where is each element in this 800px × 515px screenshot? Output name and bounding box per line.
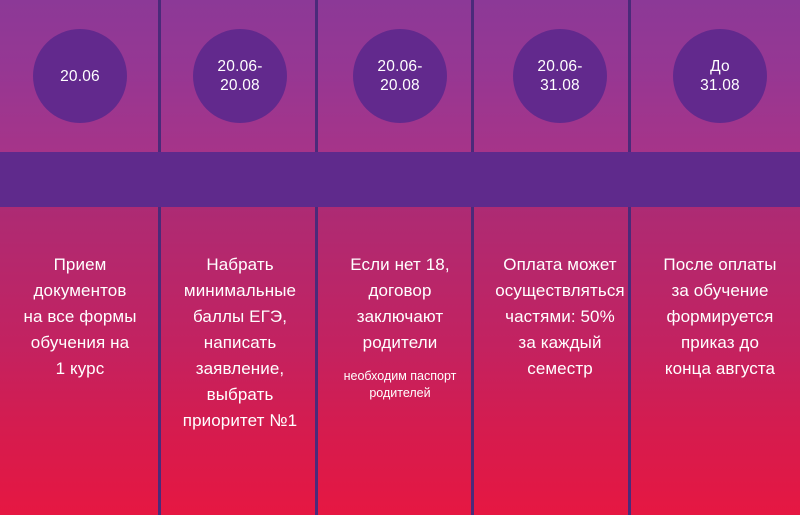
step-description: Прием документов на все формы обучения н…	[6, 252, 154, 382]
date-badge: 20.06- 20.08	[353, 29, 447, 123]
timeline-columns: 20.06 Начало Прием документов на все фор…	[0, 0, 800, 515]
step-description: Если нет 18, договор заключают родители	[326, 252, 474, 356]
date-badge-zone-5: До 31.08	[640, 0, 800, 152]
date-badge: 20.06- 31.08	[513, 29, 607, 123]
step-description: Набрать минимальные баллы ЕГЭ, написать …	[166, 252, 314, 434]
step-note: необходим паспорт родителей	[326, 368, 474, 402]
step-description-zone-1: Прием документов на все формы обучения н…	[0, 207, 160, 515]
timeline-step-5[interactable]: До 31.08 Приказ После оплаты за обучение…	[640, 0, 800, 515]
step-description: Оплата может осуществляться частями: 50%…	[486, 252, 634, 382]
date-badge-zone-1: 20.06	[0, 0, 160, 152]
step-description-zone-2: Набрать минимальные баллы ЕГЭ, написать …	[160, 207, 320, 515]
step-description-zone-5: После оплаты за обучение формируется при…	[640, 207, 800, 515]
timeline-step-2[interactable]: 20.06- 20.08 Заявление Набрать минимальн…	[160, 0, 320, 515]
step-description: После оплаты за обучение формируется при…	[646, 252, 794, 382]
date-badge: 20.06- 20.08	[193, 29, 287, 123]
date-badge: 20.06	[33, 29, 127, 123]
date-badge-zone-3: 20.06- 20.08	[320, 0, 480, 152]
stage-label-band	[0, 152, 800, 207]
timeline-step-3[interactable]: 20.06- 20.08 Договор Если нет 18, догово…	[320, 0, 480, 515]
admission-timeline-infographic: 20.06 Начало Прием документов на все фор…	[0, 0, 800, 515]
timeline-step-1[interactable]: 20.06 Начало Прием документов на все фор…	[0, 0, 160, 515]
step-description-zone-4: Оплата может осуществляться частями: 50%…	[480, 207, 640, 515]
step-description-zone-3: Если нет 18, договор заключают родители …	[320, 207, 480, 515]
timeline-step-4[interactable]: 20.06- 31.08 Оплата Оплата может осущест…	[480, 0, 640, 515]
date-badge-zone-4: 20.06- 31.08	[480, 0, 640, 152]
date-badge: До 31.08	[673, 29, 767, 123]
date-badge-zone-2: 20.06- 20.08	[160, 0, 320, 152]
